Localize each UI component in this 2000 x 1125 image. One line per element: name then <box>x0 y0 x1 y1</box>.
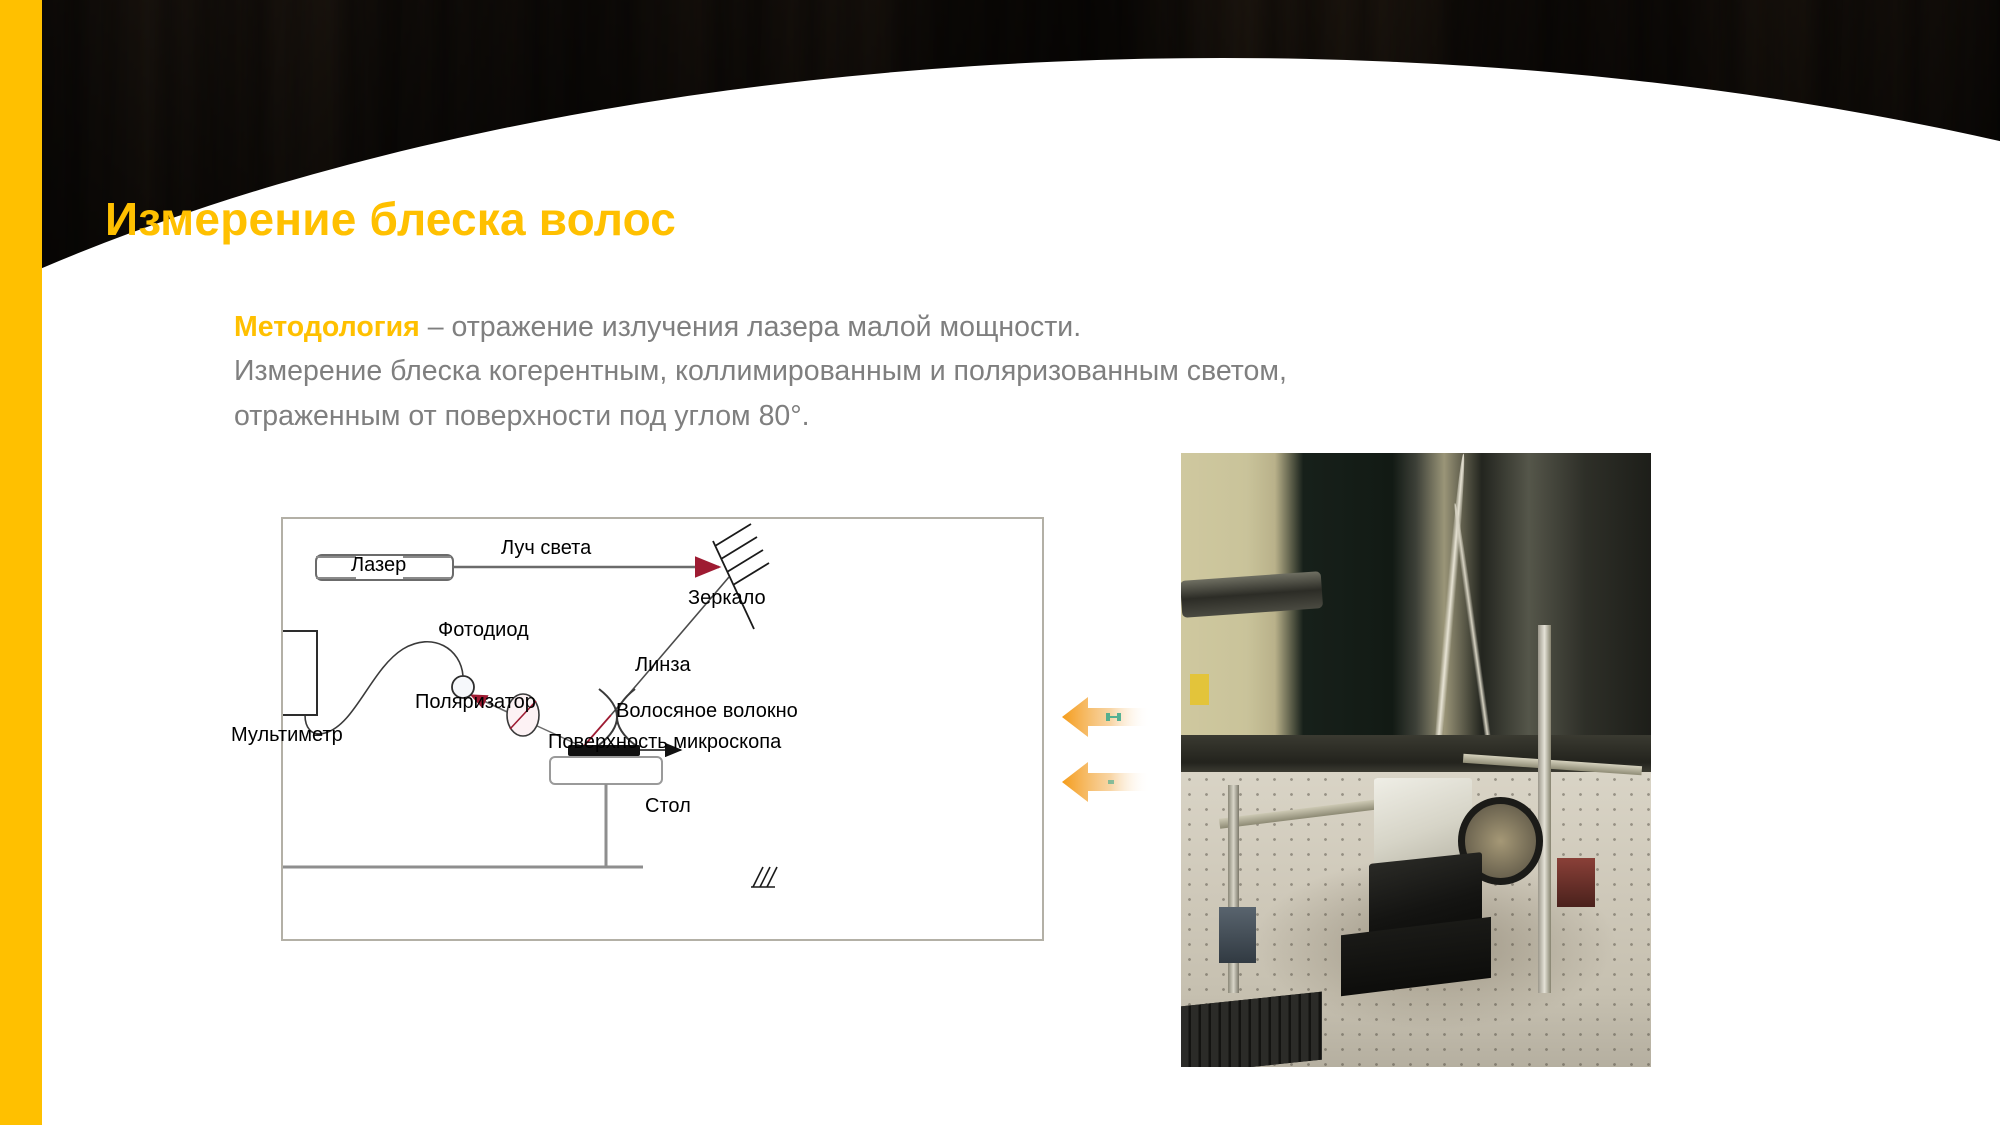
label-laser: Лазер <box>351 554 406 577</box>
lab-microscope-photograph <box>1181 453 1651 1067</box>
label-light-beam: Луч света <box>501 537 591 560</box>
photo-content <box>1181 453 1651 1067</box>
label-lens: Линза <box>635 654 691 677</box>
photo-keyboard <box>1181 992 1322 1067</box>
photo-red-mount <box>1557 858 1595 907</box>
slide-root: Измерение блеска волос Методология – отр… <box>0 0 2000 1125</box>
body-paragraph: Методология – отражение излучения лазера… <box>234 305 1524 438</box>
body-lead-term: Методология <box>234 311 420 343</box>
mirror-shape <box>713 524 769 629</box>
multimeter-shape <box>283 631 317 715</box>
photo-post-right <box>1538 625 1551 993</box>
left-accent-bar <box>0 0 42 1125</box>
pointer-arrow-bottom <box>1060 760 1150 804</box>
body-line-2: Измерение блеска когерентным, коллимиров… <box>234 355 1287 387</box>
label-table: Стол <box>645 795 691 818</box>
body-line-3: отраженным от поверхности под углом 80°. <box>234 400 810 432</box>
photodiode-wire <box>305 642 463 734</box>
photo-yellow-container <box>1190 674 1209 705</box>
page-title: Измерение блеска волос <box>105 192 676 246</box>
table-hatch-icon <box>751 867 777 887</box>
body-lead-rest: – отражение излучения лазера малой мощно… <box>420 311 1081 343</box>
optical-setup-schematic: Лазер Луч света Зеркало Линза Фотодиод П… <box>281 517 1044 941</box>
label-microscope-surface: Поверхность микроскопа <box>548 731 781 754</box>
photo-blue-mount <box>1219 907 1257 962</box>
label-hair-fiber: Волосяное волокно <box>616 700 798 723</box>
label-multimeter: Мультиметр <box>231 724 343 747</box>
label-photodiode: Фотодиод <box>438 619 529 642</box>
pointer-arrow-top <box>1060 695 1150 739</box>
label-mirror: Зеркало <box>688 587 766 610</box>
label-polarizer: Поляризатор <box>415 691 536 714</box>
microscope-surface-shape <box>550 757 662 784</box>
schematic-drawing <box>283 519 1038 935</box>
